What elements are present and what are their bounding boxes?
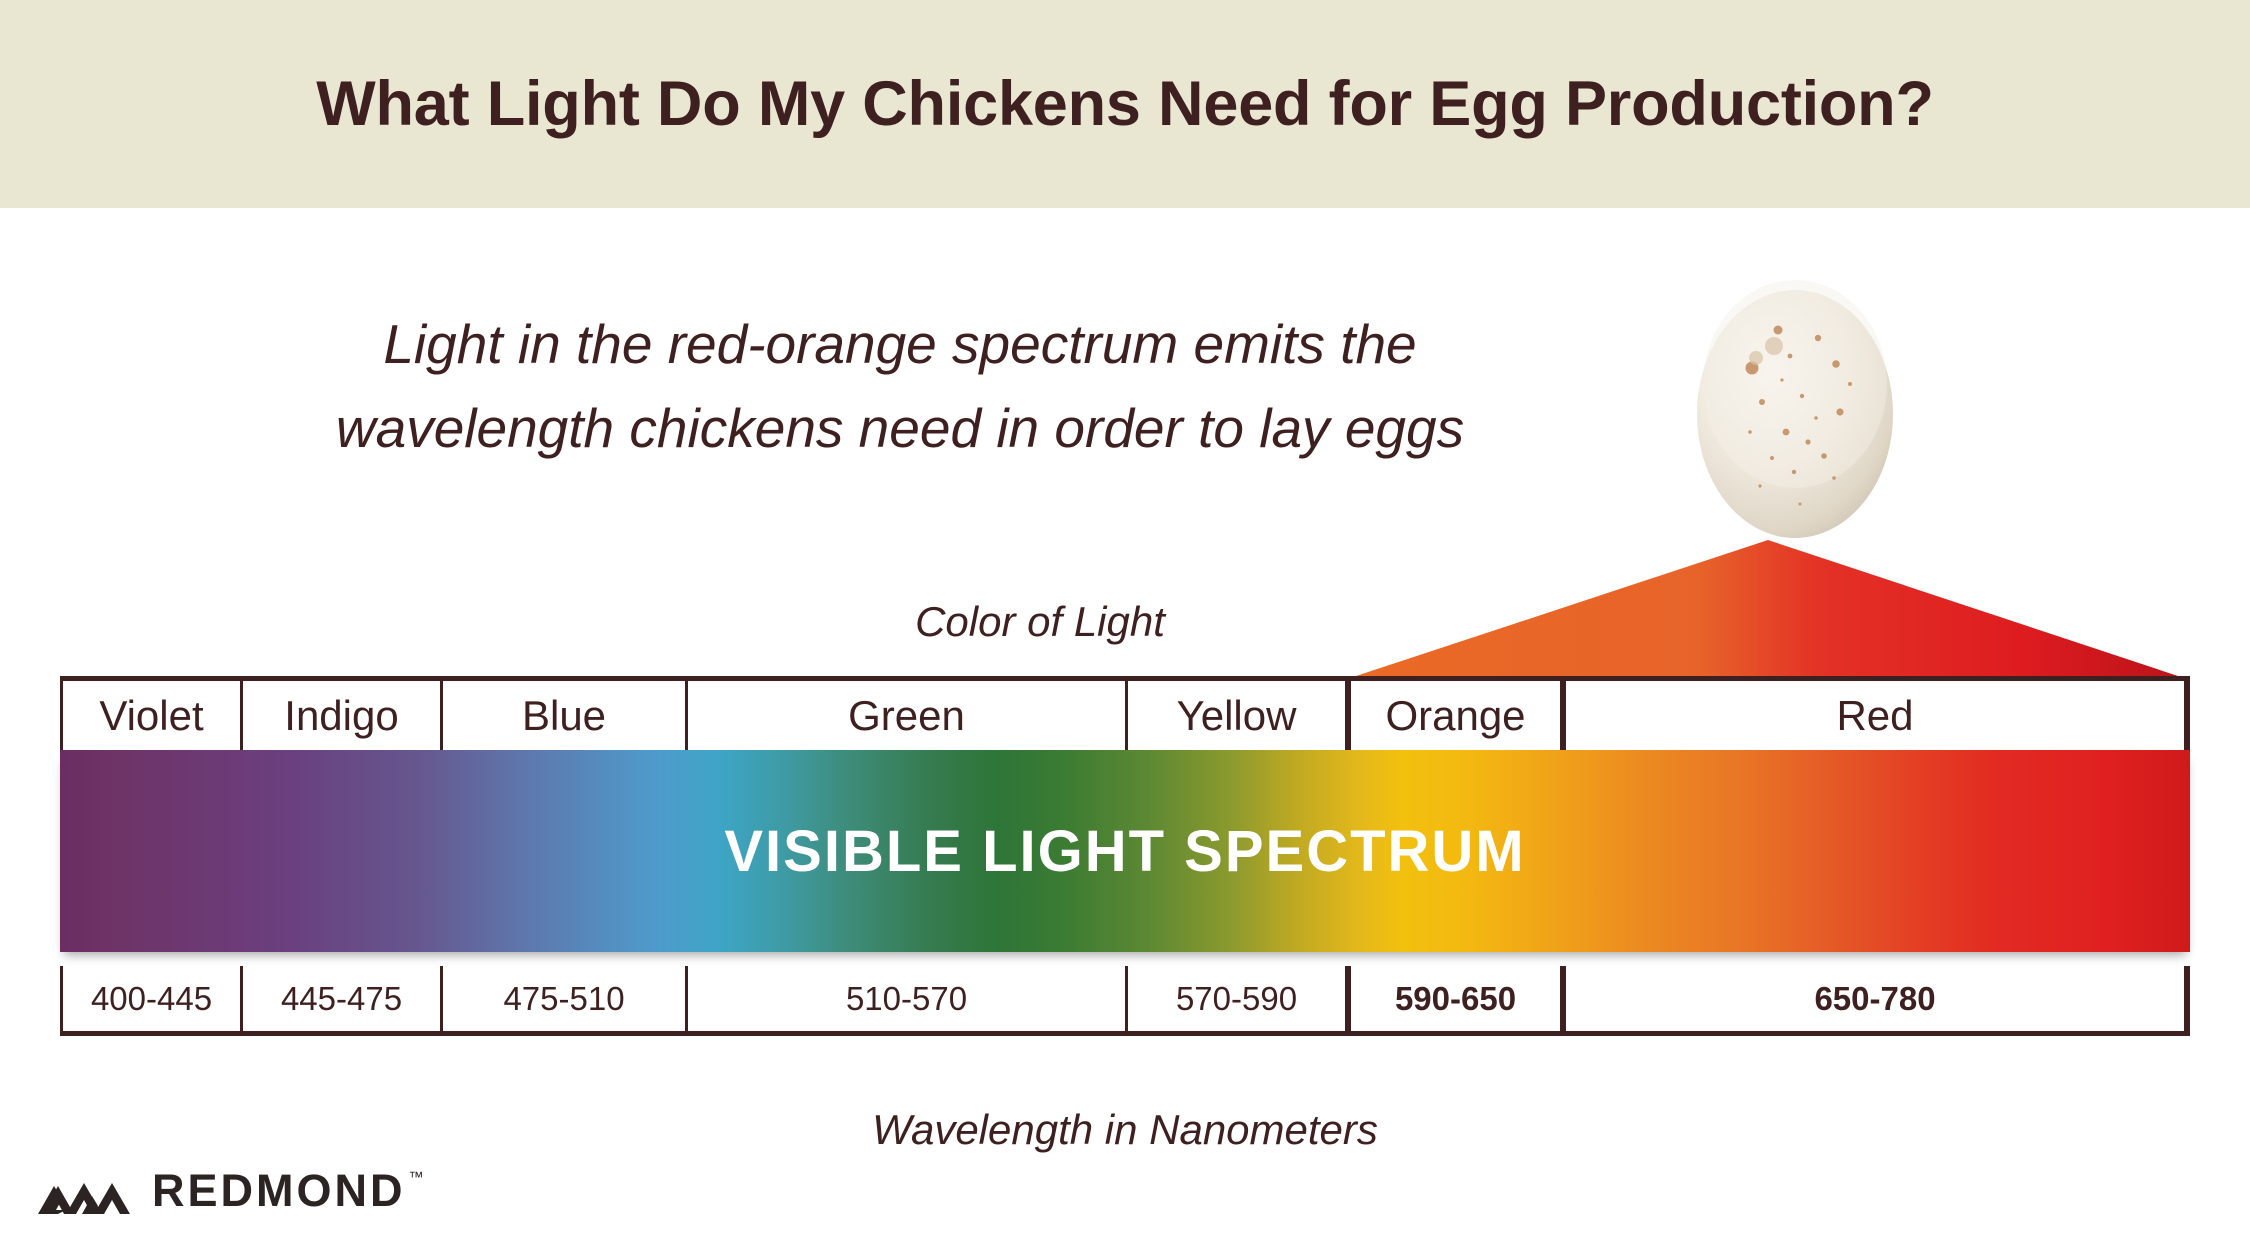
band-range-orange[interactable]: 590-650 [1345, 966, 1560, 1031]
subtitle-text: Light in the red-orange spectrum emits t… [120, 302, 1680, 470]
band-label-indigo[interactable]: Indigo [240, 681, 440, 750]
visible-light-spectrum-title: VISIBLE LIGHT SPECTRUM [60, 750, 2190, 952]
spacer [60, 952, 2190, 966]
red-orange-highlight-triangle [1344, 540, 2190, 680]
speckled-egg-icon [1690, 272, 1900, 540]
trademark-symbol: ™ [409, 1168, 424, 1188]
egg-image-wrap [1690, 272, 1900, 540]
color-of-light-label: Color of Light [760, 598, 1320, 646]
band-range-violet[interactable]: 400-445 [60, 966, 240, 1031]
infographic-page: What Light Do My Chickens Need for Egg P… [0, 0, 2250, 1250]
band-label-red[interactable]: Red [1560, 681, 2190, 750]
header-band: What Light Do My Chickens Need for Egg P… [0, 0, 2250, 208]
mountain-peaks-icon [38, 1168, 142, 1214]
band-label-blue[interactable]: Blue [440, 681, 685, 750]
band-range-indigo[interactable]: 445-475 [240, 966, 440, 1031]
band-label-orange[interactable]: Orange [1345, 681, 1560, 750]
page-title: What Light Do My Chickens Need for Egg P… [0, 0, 2250, 208]
band-range-green[interactable]: 510-570 [685, 966, 1125, 1031]
subtitle-line-1: Light in the red-orange spectrum emits t… [120, 302, 1680, 386]
redmond-logo[interactable]: REDMOND ™ [38, 1168, 424, 1224]
subtitle-line-2: wavelength chickens need in order to lay… [120, 386, 1680, 470]
band-range-blue[interactable]: 475-510 [440, 966, 685, 1031]
wavelength-row: 400-445 445-475 475-510 510-570 570-590 … [60, 966, 2190, 1036]
band-label-violet[interactable]: Violet [60, 681, 240, 750]
band-label-yellow[interactable]: Yellow [1125, 681, 1345, 750]
band-range-red[interactable]: 650-780 [1560, 966, 2190, 1031]
wavelength-axis-label: Wavelength in Nanometers [560, 1106, 1690, 1154]
logo-wordmark: REDMOND [152, 1168, 406, 1214]
visible-light-gradient-bar: VISIBLE LIGHT SPECTRUM [60, 750, 2190, 952]
color-label-row: Violet Indigo Blue Green Yellow Orange R… [60, 676, 2190, 750]
band-range-yellow[interactable]: 570-590 [1125, 966, 1345, 1031]
spectrum-chart: Violet Indigo Blue Green Yellow Orange R… [60, 676, 2190, 1036]
band-label-green[interactable]: Green [685, 681, 1125, 750]
